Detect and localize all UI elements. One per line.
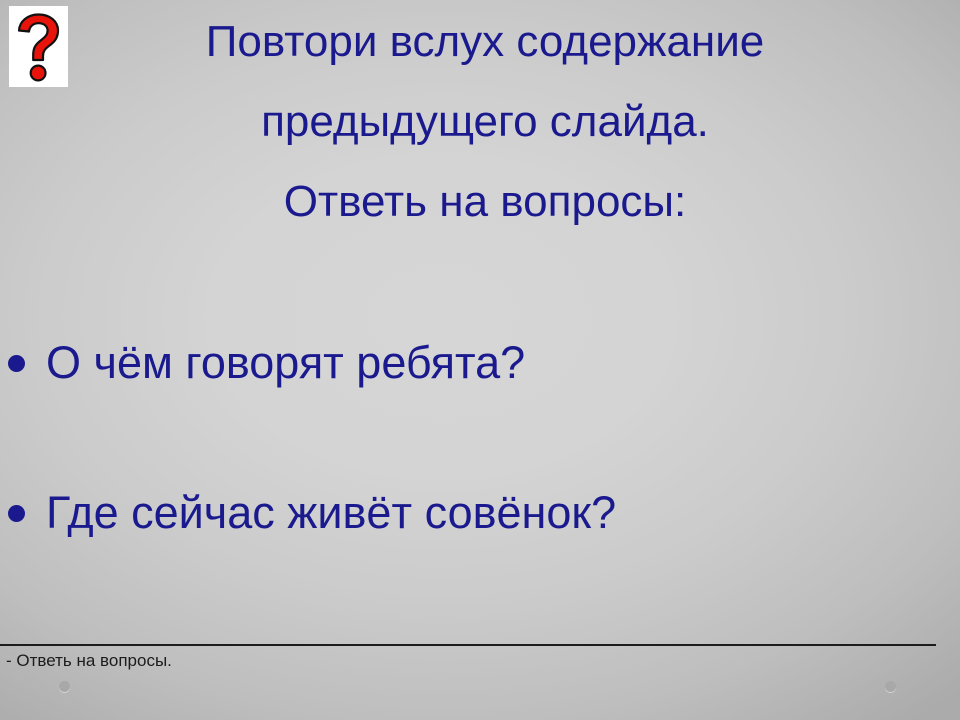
bullet-dot-icon (8, 355, 25, 372)
bullet-dot-icon (8, 505, 25, 522)
title-line-2: предыдущего слайда. (70, 82, 900, 162)
list-item: Где сейчас живёт совёнок? (0, 468, 960, 618)
slide-title: Повтори вслух содержание предыдущего сла… (70, 2, 900, 242)
list-item: О чём говорят ребята? (0, 318, 960, 468)
question-mark-icon (9, 6, 68, 87)
title-line-3: Ответь на вопросы: (70, 162, 900, 242)
footer-divider (0, 644, 936, 646)
slide-canvas: Повтори вслух содержание предыдущего сла… (0, 0, 960, 720)
decorative-dot-right (885, 681, 896, 692)
footer-note: - Ответь на вопросы. (6, 651, 172, 671)
title-line-1: Повтори вслух содержание (70, 2, 900, 82)
question-mark-glyph (9, 6, 68, 87)
decorative-dot-left (59, 681, 70, 692)
bullet-text-1: О чём говорят ребята? (46, 340, 525, 385)
bullet-text-2: Где сейчас живёт совёнок? (46, 490, 616, 535)
slide-body: О чём говорят ребята? Где сейчас живёт с… (0, 318, 960, 618)
